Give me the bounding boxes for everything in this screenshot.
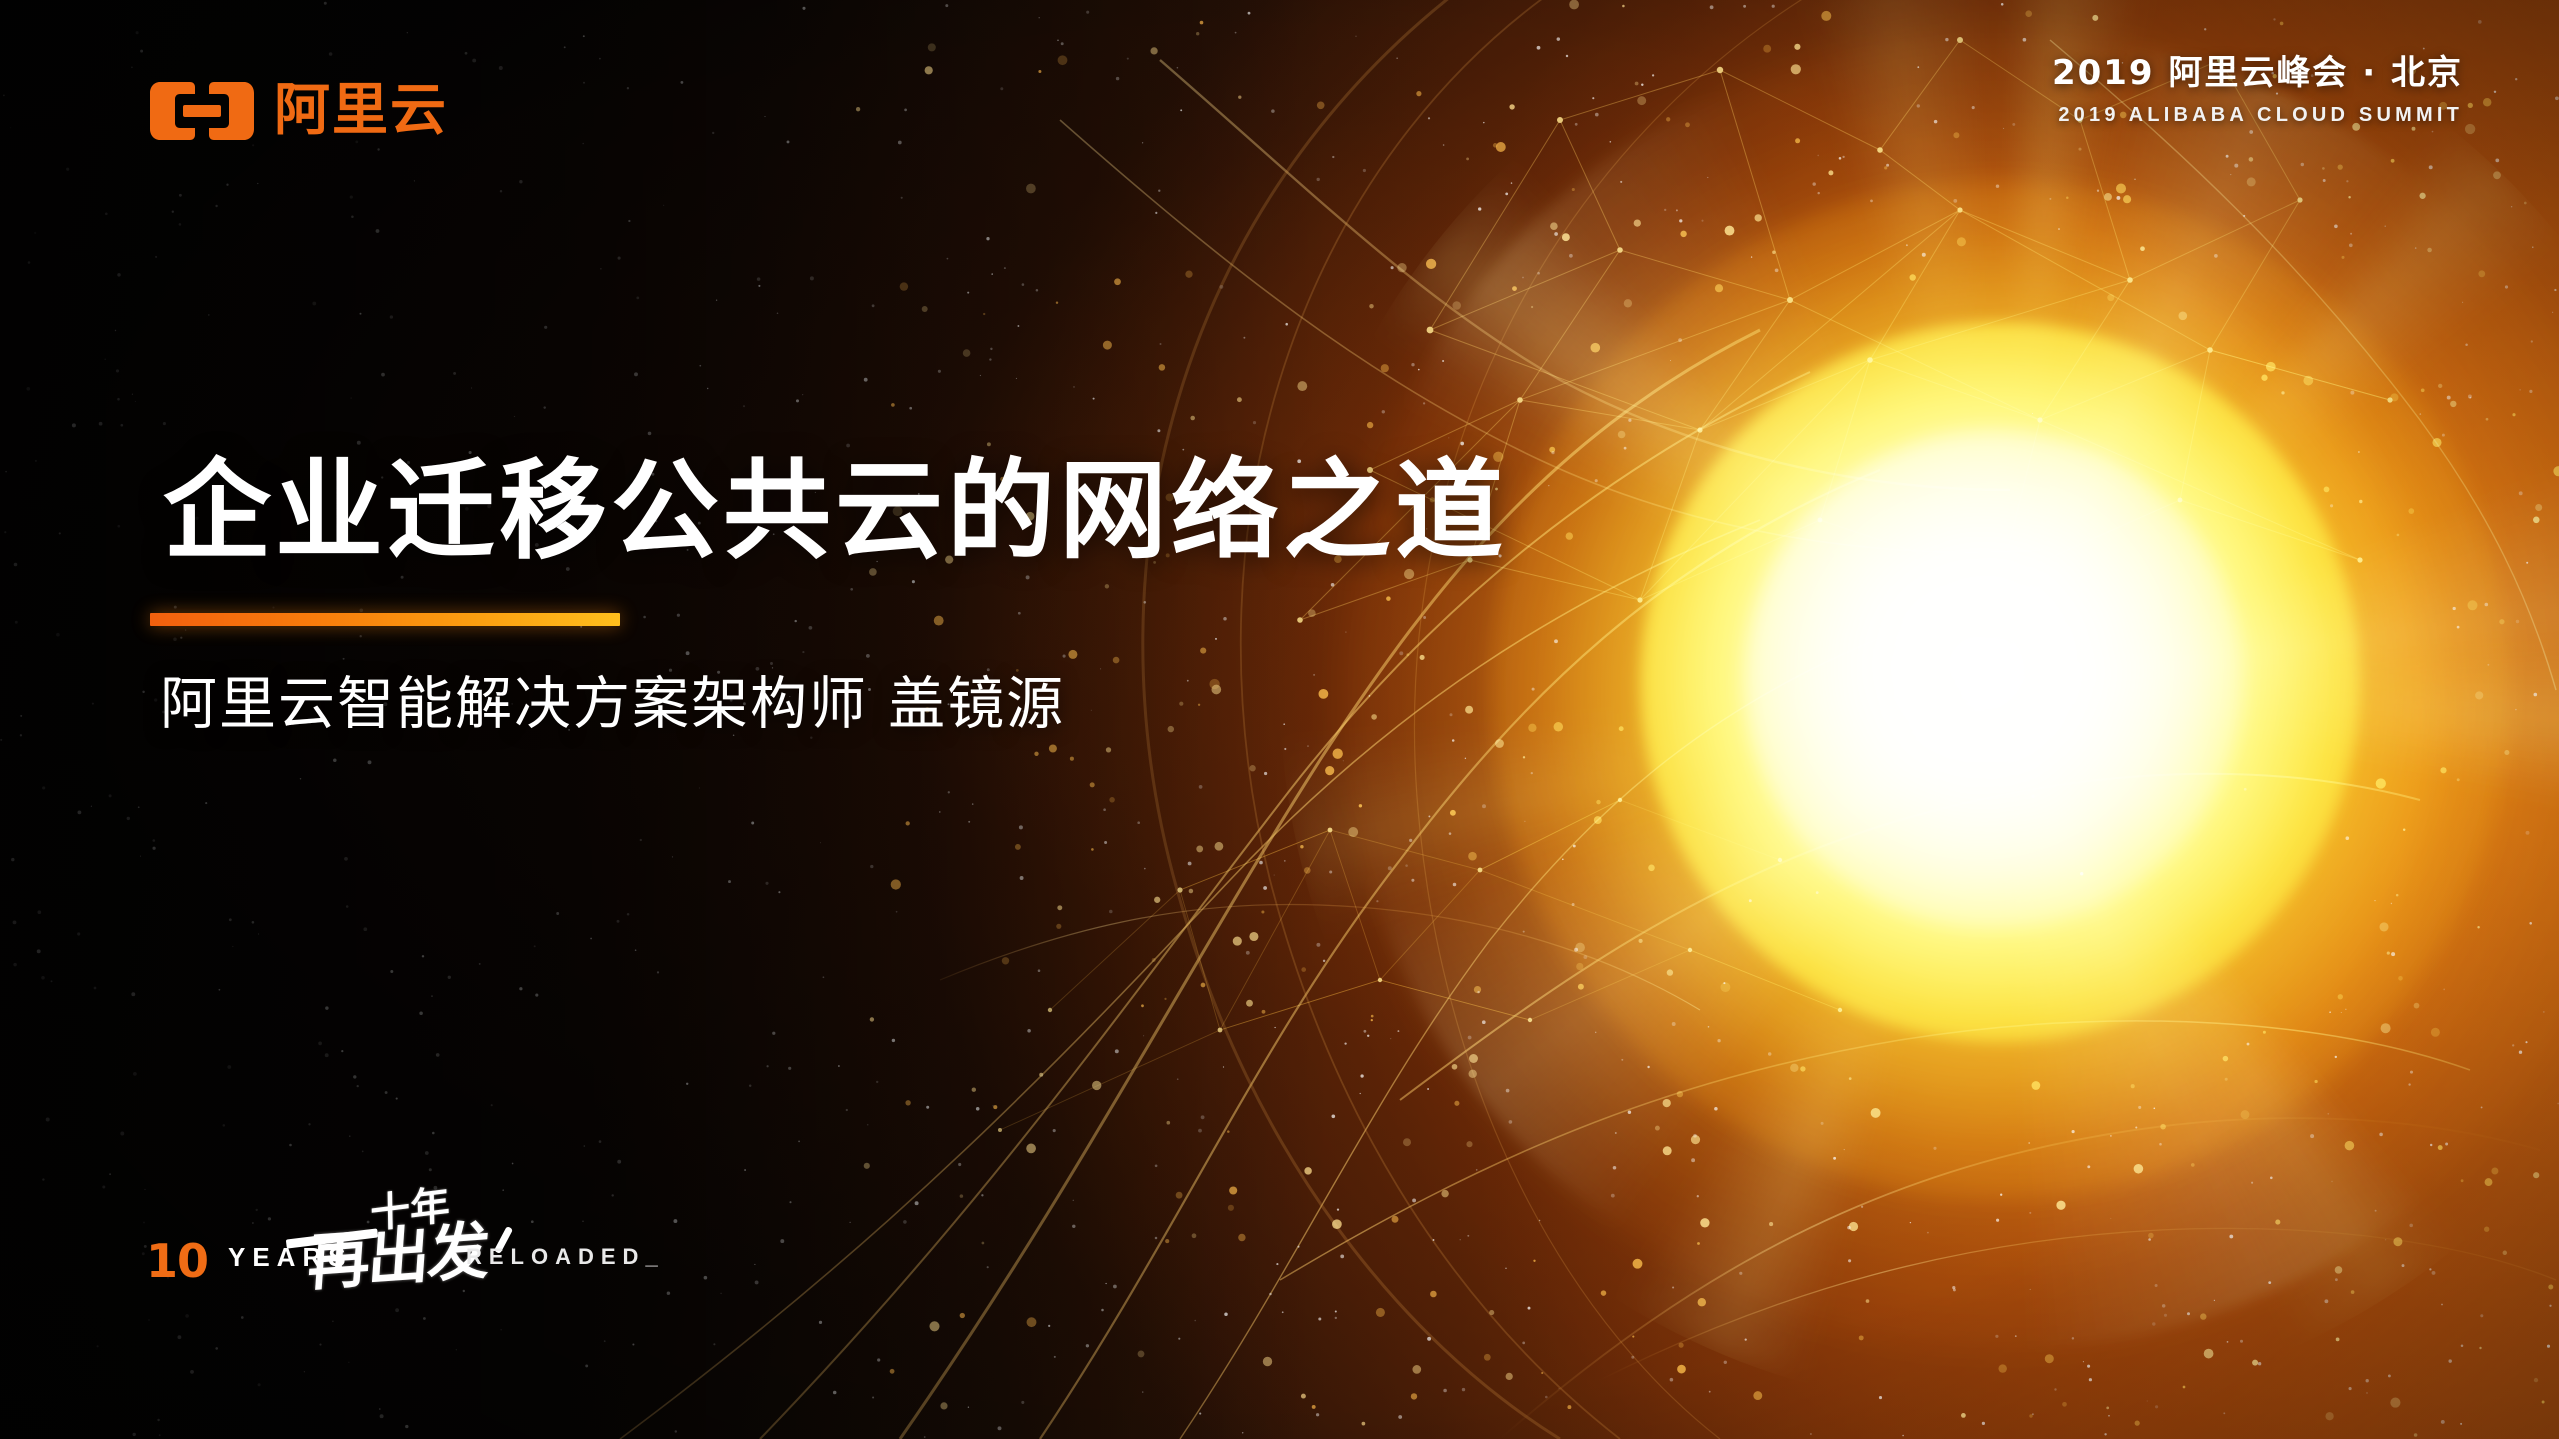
summit-title-en: 2019 ALIBABA CLOUD SUMMIT <box>2052 103 2463 127</box>
summit-title-cn: 2019 阿里云峰会 · 北京 <box>2052 52 2463 95</box>
alibaba-cloud-wordmark: 阿里云 <box>274 83 448 139</box>
presenter-subtitle: 阿里云智能解决方案架构师 盖镜源 <box>160 670 1507 738</box>
presentation-slide: 阿里云 2019 阿里云峰会 · 北京 2019 ALIBABA CLOUD S… <box>0 0 2559 1439</box>
summit-lockup: 2019 阿里云峰会 · 北京 2019 ALIBABA CLOUD SUMMI… <box>2052 52 2463 127</box>
alibaba-cloud-mark-icon <box>146 78 258 144</box>
anniversary-ten: 10 <box>146 1238 208 1284</box>
slide-content: 阿里云 2019 阿里云峰会 · 北京 2019 ALIBABA CLOUD S… <box>0 0 2559 1439</box>
alibaba-cloud-logo: 阿里云 <box>146 78 448 144</box>
page-title: 企业迁移公共云的网络之道 <box>163 452 1507 573</box>
anniversary-badge: 10 YEARS 十年 再出发 RELOADED_ <box>146 1196 666 1306</box>
anniversary-reloaded: RELOADED_ <box>466 1246 665 1268</box>
title-divider <box>150 613 620 626</box>
calligraphy-bottom-text: 再出发 <box>306 1219 490 1294</box>
title-block: 企业迁移公共云的网络之道 阿里云智能解决方案架构师 盖镜源 <box>150 452 1507 738</box>
